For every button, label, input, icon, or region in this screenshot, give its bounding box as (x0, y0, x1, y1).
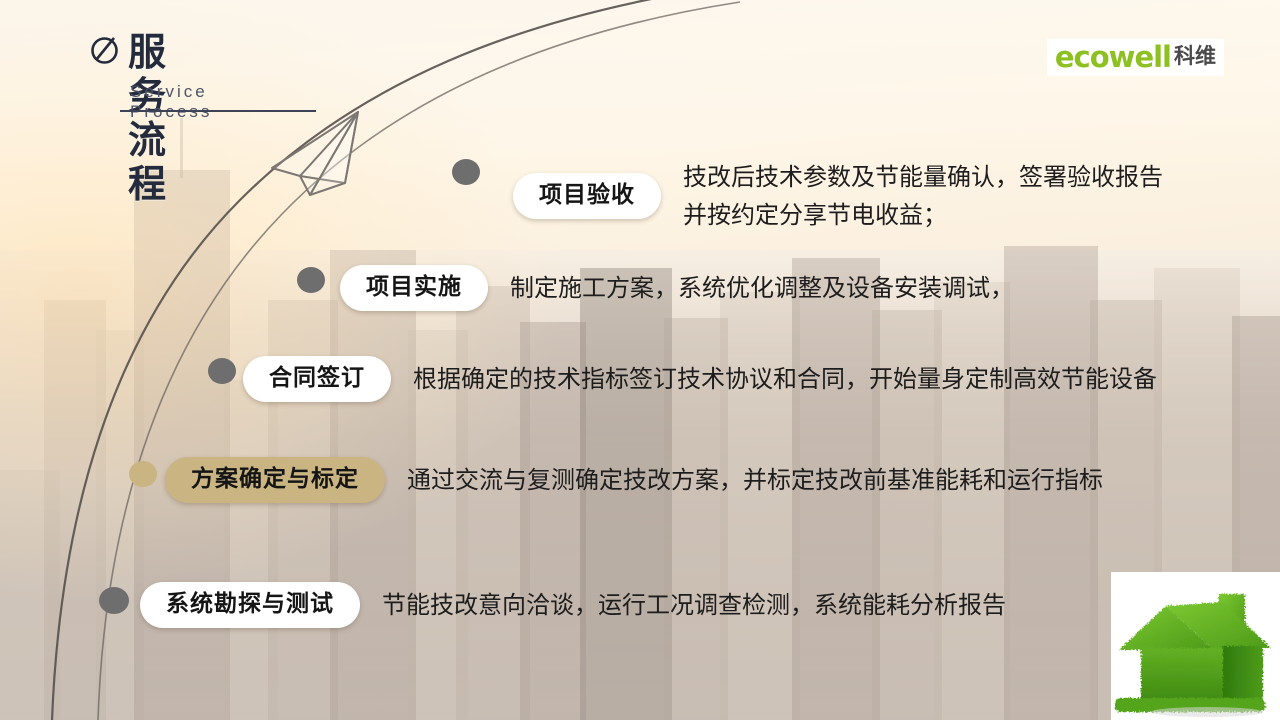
step-label: 项目验收 (539, 182, 635, 208)
step-description: 通过交流与复测确定技改方案，并标定技改前基准能耗和运行指标 (407, 461, 1103, 499)
green-grass-house-image (1111, 572, 1280, 720)
step-label: 系统勘探与测试 (166, 591, 334, 617)
step-description-line: 并按约定分享节电收益； (683, 196, 1163, 234)
step-node-dot (129, 461, 157, 487)
step-node-dot (208, 358, 236, 384)
step-description-line: 技改后技术参数及节能量确认，签署验收报告 (683, 163, 1163, 191)
step-description: 制定施工方案，系统优化调整及设备安装调试， (510, 269, 1014, 307)
step-node-dot (452, 159, 480, 185)
step-description-line: 节能技改意向洽谈，运行工况调查检测，系统能耗分析报告 (382, 591, 1006, 619)
step-description: 根据确定的技术指标签订技术协议和合同，开始量身定制高效节能设备 (413, 360, 1157, 398)
step-pill[interactable]: 项目验收 (513, 173, 661, 219)
step-node-dot (297, 267, 325, 293)
step-description: 节能技改意向洽谈，运行工况调查检测，系统能耗分析报告 (382, 586, 1006, 624)
process-step[interactable]: 系统勘探与测试 节能技改意向洽谈，运行工况调查检测，系统能耗分析报告 (140, 582, 1006, 628)
step-label: 合同签订 (269, 365, 365, 391)
green-house-illustration (1111, 572, 1280, 720)
step-description-line: 通过交流与复测确定技改方案，并标定技改前基准能耗和运行指标 (407, 466, 1103, 494)
step-label: 项目实施 (366, 274, 462, 300)
step-description-line: 制定施工方案，系统优化调整及设备安装调试， (510, 274, 1014, 302)
step-pill[interactable]: 合同签订 (243, 356, 391, 402)
step-label: 方案确定与标定 (191, 466, 359, 492)
process-step[interactable]: 项目实施 制定施工方案，系统优化调整及设备安装调试， (340, 265, 1014, 311)
step-description: 技改后技术参数及节能量确认，签署验收报告 并按约定分享节电收益； (683, 158, 1163, 234)
process-step[interactable]: 方案确定与标定 通过交流与复测确定技改方案，并标定技改前基准能耗和运行指标 (165, 457, 1103, 503)
step-pill[interactable]: 项目实施 (340, 265, 488, 311)
step-node-dot (99, 587, 129, 614)
process-step-list: 项目验收 技改后技术参数及节能量确认，签署验收报告 并按约定分享节电收益； 项目… (0, 0, 1280, 720)
step-pill[interactable]: 系统勘探与测试 (140, 582, 360, 628)
slide-root: 服务流程 Service Process ecowell 科维 项目验收 技改后… (0, 0, 1280, 720)
step-description-line: 根据确定的技术指标签订技术协议和合同，开始量身定制高效节能设备 (413, 365, 1157, 393)
process-step[interactable]: 合同签订 根据确定的技术指标签订技术协议和合同，开始量身定制高效节能设备 (243, 356, 1157, 402)
process-step[interactable]: 项目验收 技改后技术参数及节能量确认，签署验收报告 并按约定分享节电收益； (513, 158, 1163, 234)
step-pill[interactable]: 方案确定与标定 (165, 457, 385, 503)
